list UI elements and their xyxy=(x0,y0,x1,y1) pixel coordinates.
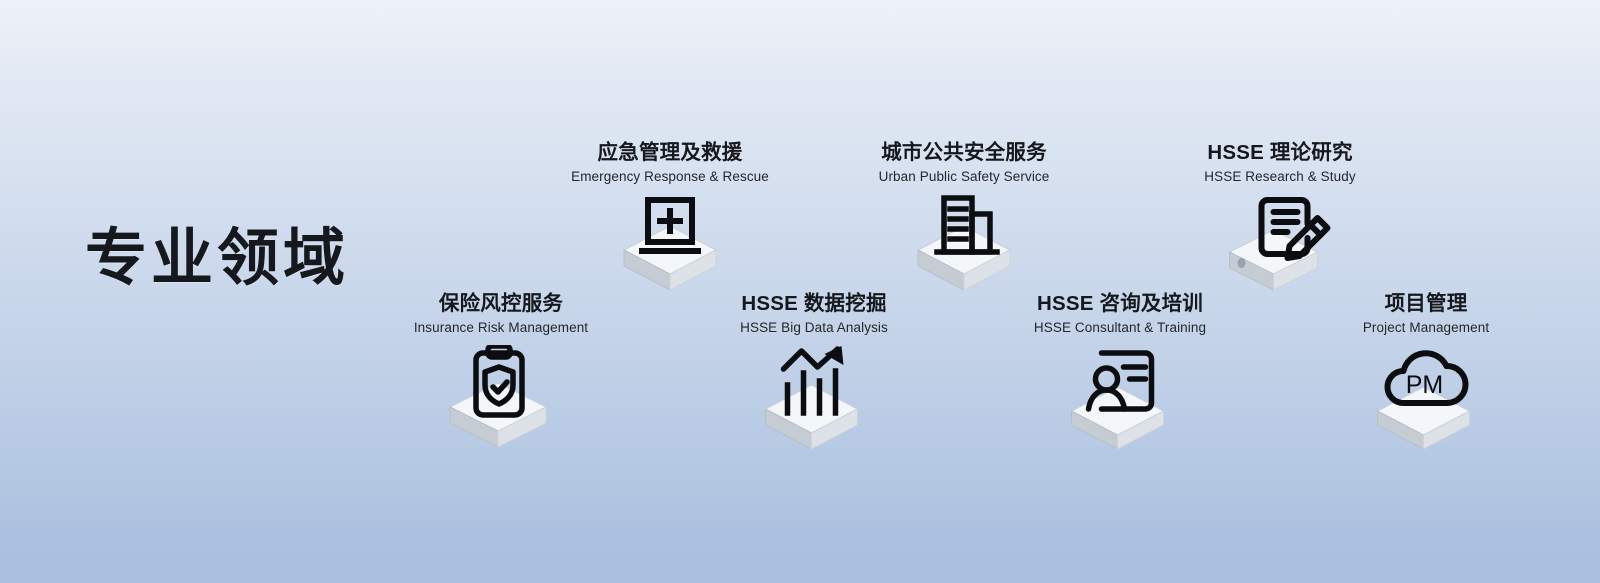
field-label-en: Emergency Response & Rescue xyxy=(520,169,820,185)
field-label-cn: HSSE 理论研究 xyxy=(1130,142,1430,165)
field-label-cn: HSSE 数据挖掘 xyxy=(664,293,964,316)
professional-fields-banner: 专业领域 应急管理及救援 Emergency Response & Rescue xyxy=(0,0,1600,583)
field-label-en: Insurance Risk Management xyxy=(351,320,651,336)
field-item-hsse-big-data[interactable]: HSSE 数据挖掘 HSSE Big Data Analysis xyxy=(664,293,964,445)
page-title: 专业领域 xyxy=(85,228,349,290)
city-buildings-icon xyxy=(814,194,1114,294)
pedestal-shape xyxy=(1230,230,1318,290)
document-pencil-icon xyxy=(1130,194,1430,294)
pedestal-shape xyxy=(766,385,858,449)
field-item-hsse-research[interactable]: HSSE 理论研究 HSSE Research & Study xyxy=(1130,142,1430,294)
field-label-cn: 保险风控服务 xyxy=(351,293,651,316)
cloud-pm-text: PM xyxy=(1406,371,1444,399)
field-label-en: Urban Public Safety Service xyxy=(814,169,1114,185)
field-label-cn: 项目管理 xyxy=(1276,293,1576,316)
field-label-en: HSSE Big Data Analysis xyxy=(664,320,964,336)
bar-chart-trend-icon xyxy=(664,345,964,445)
field-label-en: Project Management xyxy=(1276,320,1576,336)
field-label-en: HSSE Research & Study xyxy=(1130,169,1430,185)
cloud-pm-icon: PM xyxy=(1276,345,1576,445)
field-label-en: HSSE Consultant & Training xyxy=(970,320,1270,336)
field-item-emergency-response[interactable]: 应急管理及救援 Emergency Response & Rescue xyxy=(520,142,820,294)
pedestal-shape xyxy=(624,226,716,290)
pedestal-shape xyxy=(918,226,1010,290)
field-item-project-management[interactable]: 项目管理 Project Management PM xyxy=(1276,293,1576,445)
field-label-cn: 城市公共安全服务 xyxy=(814,142,1114,165)
field-label-cn: 应急管理及救援 xyxy=(520,142,820,165)
field-label-cn: HSSE 咨询及培训 xyxy=(970,293,1270,316)
id-card-person-icon xyxy=(970,345,1270,445)
field-item-hsse-consultant[interactable]: HSSE 咨询及培训 HSSE Consultant & Training xyxy=(970,293,1270,445)
field-item-urban-public-safety[interactable]: 城市公共安全服务 Urban Public Safety Service xyxy=(814,142,1114,294)
clipboard-shield-check-icon xyxy=(351,345,651,445)
field-item-insurance-risk[interactable]: 保险风控服务 Insurance Risk Management xyxy=(351,293,651,445)
first-aid-monitor-icon xyxy=(520,194,820,294)
